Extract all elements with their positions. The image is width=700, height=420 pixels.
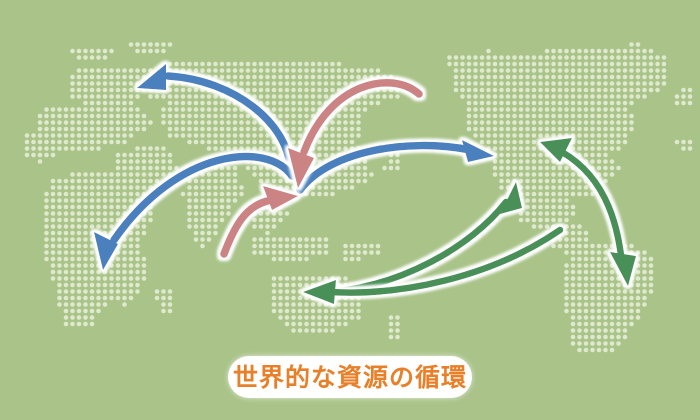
caption-pill: 世界的な資源の循環 — [228, 356, 472, 398]
world-resource-circulation-illustration: 世界的な資源の循環 — [0, 0, 700, 420]
caption-text: 世界的な資源の循環 — [233, 365, 467, 390]
